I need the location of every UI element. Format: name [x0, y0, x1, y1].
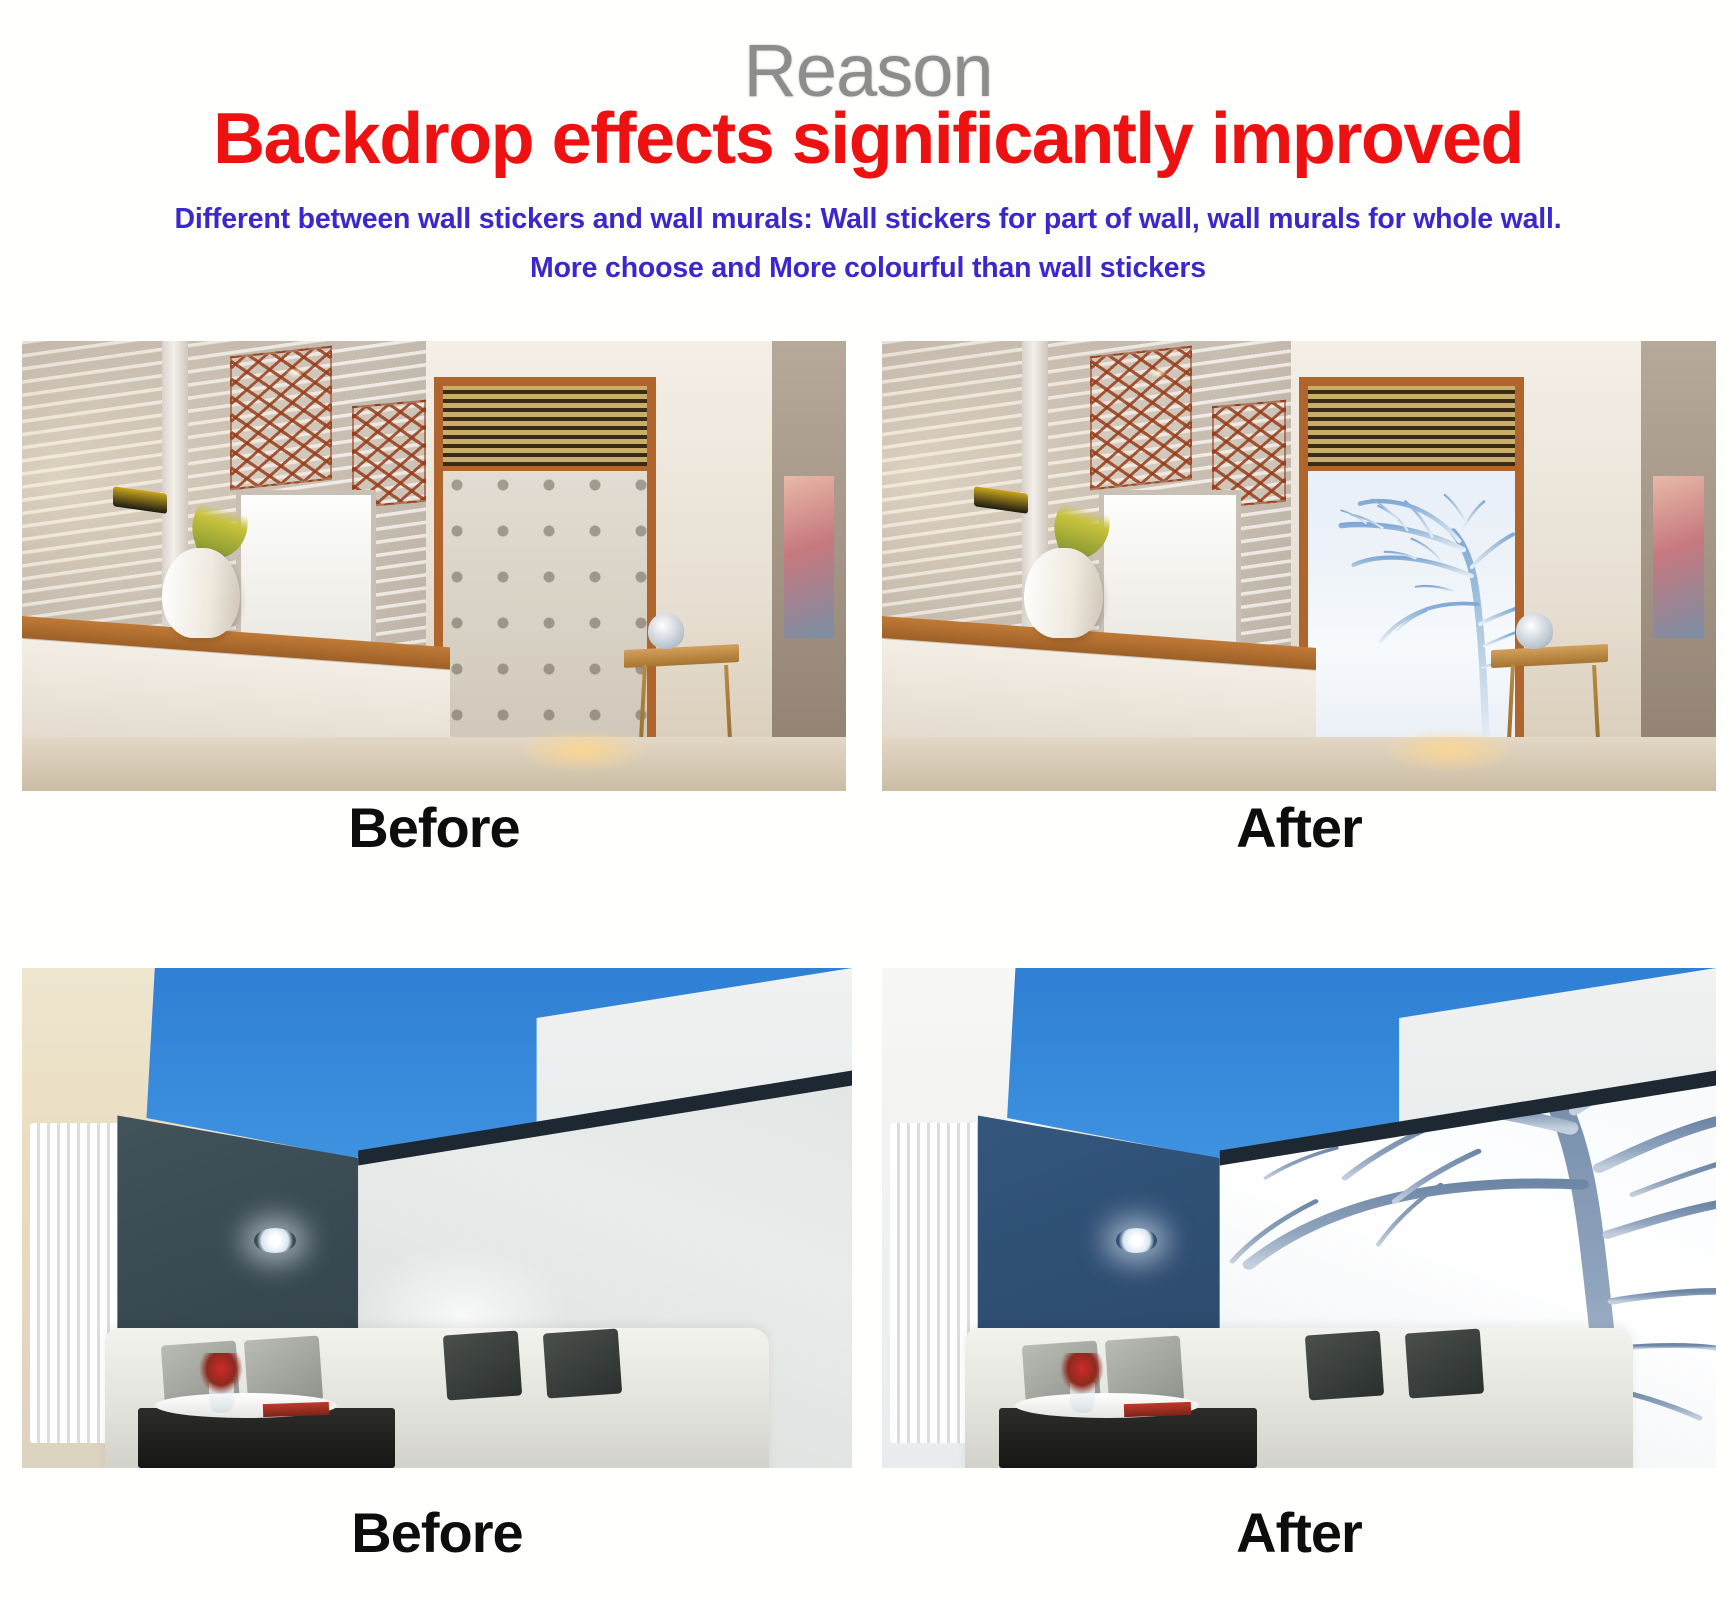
lattice-art-large: [230, 346, 332, 491]
decor-teapot: [1516, 613, 1553, 649]
decor-teapot: [648, 613, 684, 649]
hallway-scene-after: [882, 341, 1716, 791]
sofa-cushion: [1405, 1328, 1484, 1398]
floor: [882, 737, 1716, 791]
photo-frame: [882, 968, 1716, 1468]
caption-lounge-before: Before: [22, 1500, 852, 1570]
floor: [22, 737, 846, 791]
flower-bouquet: [1057, 1353, 1107, 1398]
sofa-cushion: [443, 1330, 522, 1400]
table-book: [262, 1402, 329, 1417]
ceiling-spotlight: [254, 1228, 296, 1253]
photo-frame: [22, 968, 852, 1468]
tree-mural-panel: [1308, 471, 1515, 755]
table-book: [1124, 1402, 1191, 1417]
promo-page: Reason Backdrop effects significantly im…: [0, 0, 1736, 1600]
white-vase: [1024, 548, 1103, 638]
ceiling-spotlight: [286, 368, 304, 378]
sofa-cushion: [1305, 1330, 1384, 1400]
photo-frame: [22, 341, 846, 791]
lounge-scene-after: [882, 968, 1716, 1468]
white-vase: [162, 548, 240, 638]
photo-frame: [882, 341, 1716, 791]
floor-light-glow: [1382, 728, 1515, 773]
floor-light-glow: [516, 728, 648, 773]
lattice-transom: [443, 386, 647, 471]
lounge-scene-before: [22, 968, 852, 1468]
hallway-scene-before: [22, 341, 846, 791]
sofa-cushion: [543, 1328, 622, 1398]
ceiling-spotlight: [1116, 1228, 1158, 1253]
caption-hallway-after: After: [882, 795, 1716, 865]
caption-hallway-before: Before: [22, 795, 846, 865]
lattice-transom: [1308, 386, 1515, 471]
comparison-grid: Before: [0, 0, 1736, 1600]
caption-lounge-after: After: [882, 1500, 1716, 1570]
flower-bouquet: [196, 1353, 246, 1398]
image-lounge-after: [882, 968, 1716, 1468]
right-wall-art: [784, 476, 833, 638]
end-wall-frame: [1299, 377, 1524, 755]
ceiling-spotlight: [1149, 368, 1167, 378]
image-hallway-after: [882, 341, 1716, 791]
image-lounge-before: [22, 968, 852, 1468]
lattice-art-large: [1090, 346, 1192, 491]
plain-wallpaper-panel: [443, 471, 647, 755]
image-hallway-before: [22, 341, 846, 791]
right-wall-art: [1653, 476, 1703, 638]
tree-mural-icon: [1308, 471, 1515, 755]
end-wall-frame: [434, 377, 656, 755]
